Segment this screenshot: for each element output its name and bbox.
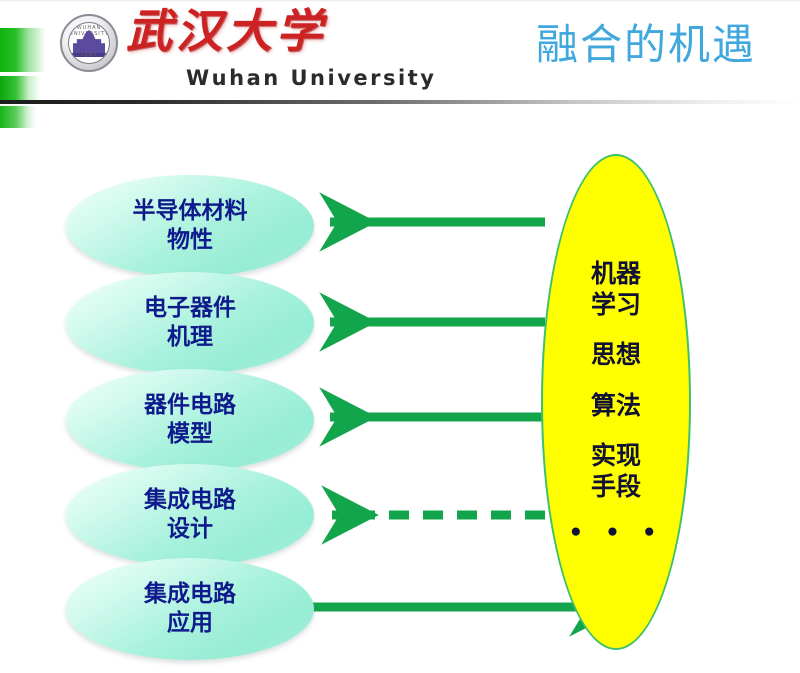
logo-english-wordmark: Wuhan University: [186, 68, 436, 89]
node-electronic-device[interactable]: 电子器件 机理: [66, 272, 314, 374]
wuhan-university-seal-icon: WUHAN UNIVERSITY 1893: [60, 14, 118, 72]
node-line-2: 应用: [167, 609, 213, 638]
left-green-accent-bar-top: [0, 28, 46, 72]
ml-item-ellipsis: • • •: [568, 522, 663, 545]
node-ic-design[interactable]: 集成电路 设计: [66, 464, 314, 566]
seal-arc-bottom-text: 1893: [69, 52, 109, 62]
left-green-accent-bar-mid: [0, 76, 40, 100]
node-machine-learning[interactable]: 机器 学习 思想 算法 实现 手段 • • •: [541, 154, 691, 650]
node-semiconductor-material[interactable]: 半导体材料 物性: [66, 175, 314, 277]
ml-item-machine-learning: 机器 学习: [591, 259, 641, 320]
ml-item-implementation: 实现 手段: [591, 441, 641, 502]
ml-item-thought: 思想: [591, 340, 641, 371]
node-line-1: 集成电路: [144, 580, 236, 609]
node-line-1: 器件电路: [144, 391, 236, 420]
node-ic-application[interactable]: 集成电路 应用: [66, 558, 314, 660]
node-line-2: 物性: [167, 226, 213, 255]
header-divider-line: [0, 100, 800, 104]
left-green-accent-bar-bottom: [0, 106, 36, 128]
node-line-2: 设计: [167, 515, 213, 544]
node-line-1: 半导体材料: [133, 197, 248, 226]
seal-inner-ring: WUHAN UNIVERSITY 1893: [68, 22, 110, 64]
node-device-circuit-model[interactable]: 器件电路 模型: [66, 369, 314, 471]
logo-chinese-wordmark: 武汉大学: [126, 8, 326, 54]
node-line-1: 电子器件: [144, 294, 236, 323]
page-title: 融合的机遇: [536, 24, 756, 66]
node-line-1: 集成电路: [144, 486, 236, 515]
ml-item-algorithm: 算法: [591, 391, 641, 422]
slide-canvas: WUHAN UNIVERSITY 1893 武汉大学 Wuhan Univers…: [0, 0, 800, 673]
node-line-2: 机理: [167, 323, 213, 352]
top-hairline: [0, 0, 800, 2]
node-line-2: 模型: [167, 420, 213, 449]
